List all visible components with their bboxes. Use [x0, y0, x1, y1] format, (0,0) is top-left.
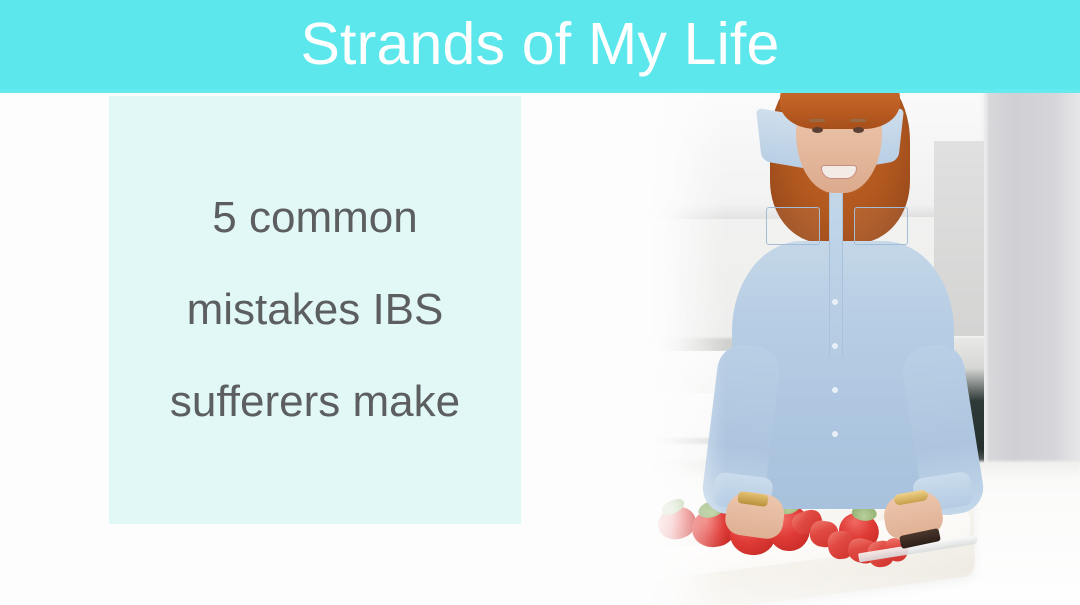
header-band: Strands of My Life [0, 0, 1080, 93]
eyebrow-left [809, 119, 825, 122]
title-card: 5 common mistakes IBS sufferers make [109, 96, 521, 524]
eyebrow-right [850, 119, 866, 122]
eye-right [853, 127, 864, 133]
hero-photo [596, 93, 1080, 605]
hair-front [780, 93, 900, 129]
slide-canvas: 5 common mistakes IBS sufferers make Str… [0, 0, 1080, 605]
person-figure [708, 99, 976, 509]
title-card-line-2: mistakes IBS [109, 288, 521, 332]
mouth-smile [821, 165, 857, 179]
site-title: Strands of My Life [0, 0, 1080, 93]
shirt-button [832, 431, 838, 437]
header-band-underline [0, 89, 1080, 93]
title-card-line-3: sufferers make [109, 380, 521, 424]
shirt-button [832, 387, 838, 393]
shirt-pocket-left [766, 207, 820, 245]
photo-scene [596, 93, 1080, 605]
photo-left-fade [596, 93, 726, 605]
photo-bottom-fade [596, 571, 1080, 605]
title-card-line-1: 5 common [109, 196, 521, 240]
shirt-button [832, 343, 838, 349]
eye-left [812, 127, 823, 133]
shirt-button [832, 299, 838, 305]
shirt-pocket-right [854, 207, 908, 245]
